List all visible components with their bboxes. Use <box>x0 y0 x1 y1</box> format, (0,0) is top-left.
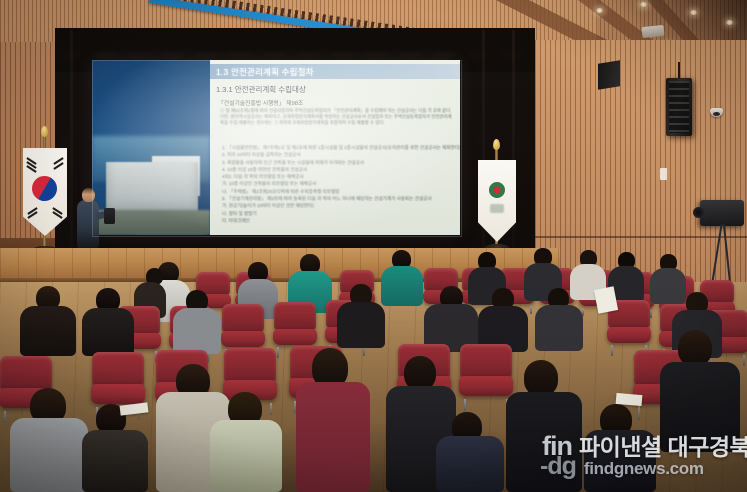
institution-emblem-icon <box>489 182 505 198</box>
person-torso <box>506 392 582 492</box>
curtain-fold <box>482 30 485 270</box>
institution-flag-text <box>490 204 504 213</box>
taeguk-symbol <box>27 171 61 205</box>
person-torso <box>20 306 76 356</box>
person-head <box>524 360 558 396</box>
slide-item-list: 1. 「시설물안전법」 제7조제1호 및 제2호에 따른 1종시설물 및 2종시… <box>222 144 454 224</box>
person-torso <box>82 430 148 492</box>
projector <box>641 25 664 38</box>
wall-control-panel <box>660 168 667 180</box>
list-item: 가. 10층 이상인 건축물의 리모델링 또는 해체공사 <box>222 180 454 187</box>
projection-screen: 1.3 안전관리계획 수립절차 1.3.1 안전관리계획 수립대상 「건설기술진… <box>92 60 460 235</box>
downlight <box>596 8 603 13</box>
person-torso <box>535 305 583 351</box>
list-item: 1. 「시설물안전법」 제7조제1호 및 제2호에 따른 1종시설물 및 2종시… <box>222 144 454 151</box>
chair[interactable] <box>222 304 264 352</box>
person-head <box>404 356 436 390</box>
chair[interactable] <box>274 302 316 350</box>
handout-paper <box>594 286 618 313</box>
person-torso <box>337 302 385 348</box>
chair[interactable] <box>460 344 512 402</box>
list-item: 가. 천공기(높이가 10미터 이상인 것만 해당한다) <box>222 202 454 209</box>
slide-paragraph: ① 법 제62조제1항에 따라 건설사업자와 주택건설등록업자가 「안전관리계획… <box>220 108 454 127</box>
video-camera <box>700 200 744 226</box>
list-item: 2. 지하 10미터 이상을 굴착하는 건설공사 <box>222 151 454 158</box>
presenter-body <box>77 200 99 248</box>
list-item: 다. 타워크레인 <box>222 217 454 224</box>
person-torso <box>173 308 221 354</box>
presenter-head <box>82 188 95 202</box>
person-head <box>678 330 712 366</box>
list-item: 4. 10층 이상 16층 미만인 건축물의 건설공사 <box>222 166 454 173</box>
line-array-speaker <box>666 78 692 136</box>
person-torso <box>436 436 504 492</box>
list-item: 나. 항타 및 항발기 <box>222 210 454 217</box>
auditorium-photo: 1.3 안전관리계획 수립절차 1.3.1 안전관리계획 수립대상 「건설기술진… <box>0 0 747 492</box>
person-torso <box>660 362 740 452</box>
slide-title: 1.3 안전관리계획 수립절차 <box>210 66 314 78</box>
slide-title-bar: 1.3 안전관리계획 수립절차 <box>210 64 460 79</box>
list-item: 5. 「건설기계관리법」 제3조에 따라 등록된 다음 각 목의 어느 하나에 … <box>222 195 454 202</box>
wall-seam <box>520 236 747 238</box>
person-torso <box>296 382 370 492</box>
chair[interactable] <box>92 352 144 410</box>
person-torso <box>381 266 423 306</box>
curtain-fold <box>70 30 73 270</box>
flag-finial-left <box>41 126 48 137</box>
speaker-left <box>598 60 620 89</box>
person-torso <box>82 308 134 356</box>
curtain-fold <box>512 30 515 270</box>
presenter-device <box>104 208 115 224</box>
person-torso <box>10 418 88 492</box>
person-torso <box>584 430 656 492</box>
list-item: 나. 「주택법」 제2조제25호다목에 따른 수직증축형 리모델링 <box>222 188 454 195</box>
downlight <box>690 10 697 15</box>
downlight <box>640 2 647 7</box>
slide-subtitle: 1.3.1 안전관리계획 수립대상 <box>216 84 306 95</box>
slide-law-reference: 「건설기술진흥법 시행령」 제98조 <box>218 98 303 107</box>
person-torso <box>650 268 686 304</box>
person-torso <box>210 420 282 492</box>
handout-paper <box>616 393 643 406</box>
list-item: 3. 폭발물을 사용하여 인근 건축물 또는 시설물에 피해가 우려되는 건설공… <box>222 159 454 166</box>
list-item: 4의2. 다음 각 목의 리모델링 또는 해체공사 <box>222 173 454 180</box>
downlight <box>726 20 733 25</box>
slide-content-panel: 1.3 안전관리계획 수립절차 1.3.1 안전관리계획 수립대상 「건설기술진… <box>210 60 460 235</box>
flag-finial-right <box>493 139 500 150</box>
